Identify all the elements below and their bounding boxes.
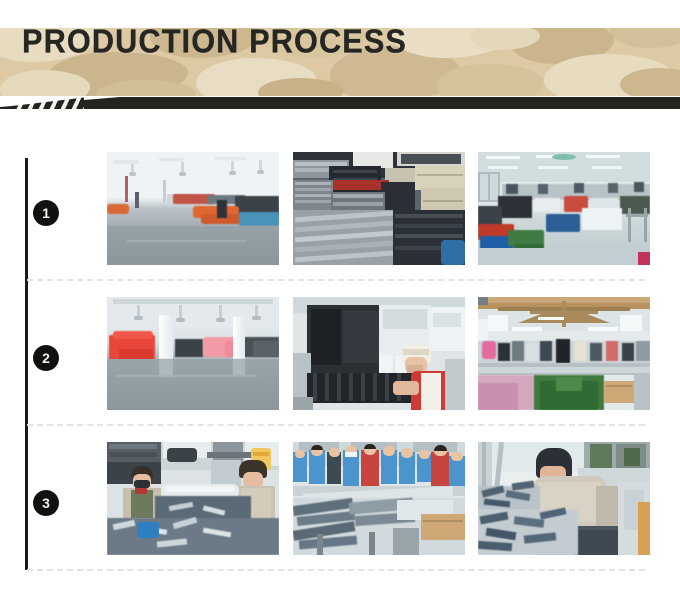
step-number-badge: 3 (33, 490, 59, 516)
page-title-text: PRODUCTION PROCESS (22, 28, 407, 60)
step-image-group (107, 442, 663, 560)
step-separator (27, 279, 645, 281)
page-title: PRODUCTION PROCESS (22, 42, 436, 80)
process-image[interactable] (478, 152, 650, 265)
accent-stripe-bar (0, 95, 680, 109)
process-image[interactable] (107, 442, 279, 555)
sewing-workshop-wide-image (478, 152, 650, 265)
warehouse-floor-overview-image (107, 152, 279, 265)
process-image[interactable] (107, 297, 279, 410)
process-step-row: 1 (0, 152, 680, 282)
step-number-badge: 1 (33, 200, 59, 226)
camo-blob (258, 78, 344, 96)
process-image[interactable] (293, 442, 465, 555)
assembly-inspection-line-image (293, 442, 465, 555)
header-banner: PRODUCTION PROCESS (0, 28, 680, 96)
process-step-row: 3 (0, 442, 680, 572)
process-image[interactable] (478, 297, 650, 410)
process-image[interactable] (293, 297, 465, 410)
material-storage-hall-image (107, 297, 279, 410)
process-image[interactable] (478, 442, 650, 555)
machine-operator-image (293, 297, 465, 410)
process-step-row: 2 (0, 297, 680, 427)
fabric-cutting-station-image (107, 442, 279, 555)
step-separator (27, 424, 645, 426)
process-image[interactable] (293, 152, 465, 265)
production-process-page: PRODUCTION PROCESS 1 (0, 0, 680, 607)
sewing-machine-operator-image (478, 442, 650, 555)
accent-bar-fill (0, 95, 680, 109)
diagonal-hatch-decoration (12, 95, 84, 109)
production-line-hall-image (478, 297, 650, 410)
process-image[interactable] (107, 152, 279, 265)
step-image-group (107, 152, 663, 270)
stacked-metal-parts-image (293, 152, 465, 265)
step-separator (27, 569, 645, 571)
process-steps-container: 1 (0, 140, 680, 607)
camo-blob (436, 64, 544, 96)
step-number-badge: 2 (33, 345, 59, 371)
step-image-group (107, 297, 663, 415)
